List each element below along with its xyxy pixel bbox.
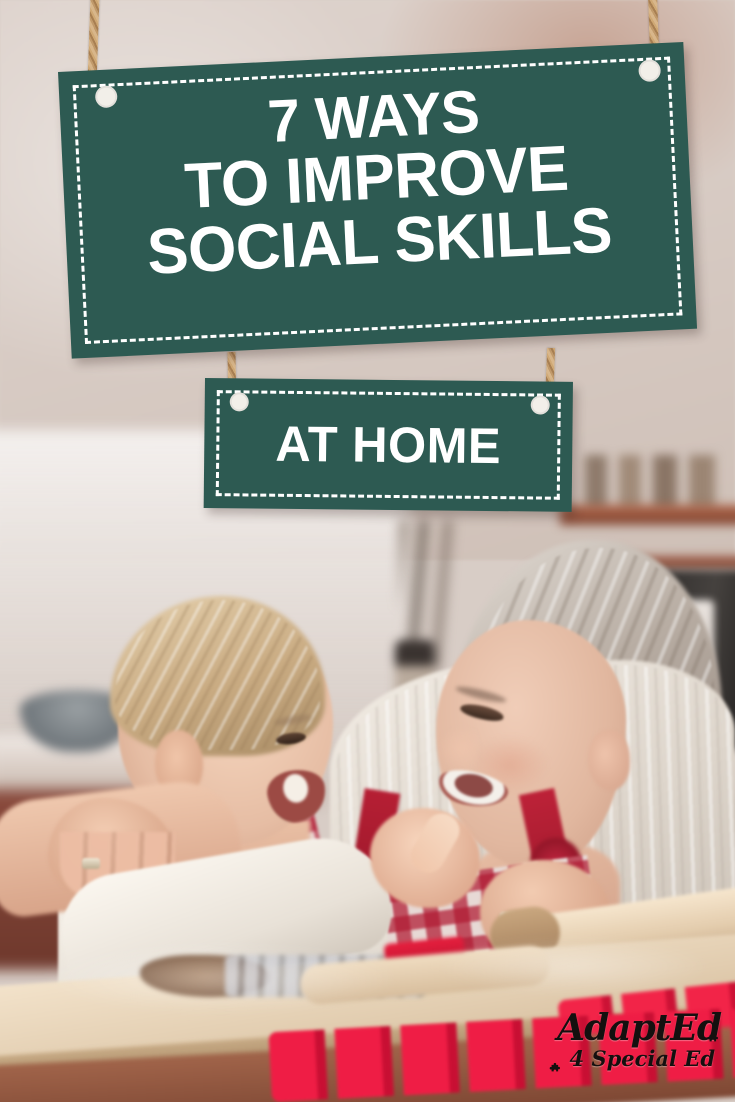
headline-text: 7 WAYS TO IMPROVE SOCIAL SKILLS [69, 72, 684, 287]
puzzle-piece-icon-secondary [548, 1062, 563, 1077]
shelf-jars [585, 455, 735, 511]
subtitle-sign: AT HOME [204, 378, 573, 512]
subtitle-text: AT HOME [208, 414, 569, 476]
puzzle-piece-icon [706, 1032, 721, 1047]
grandmother-ear [588, 730, 630, 790]
sub-grommet-hole-left [230, 392, 249, 411]
headline-sign: 7 WAYS TO IMPROVE SOCIAL SKILLS [58, 42, 697, 359]
grandmother-nose [438, 726, 478, 772]
logo-brand-text: AdaptEd [531, 1010, 721, 1046]
adapted-logo[interactable]: AdaptEd 4 Special Ed [531, 1010, 721, 1086]
pinterest-pin-graphic: 7 WAYS TO IMPROVE SOCIAL SKILLS AT HOME … [0, 0, 735, 1102]
sub-grommet-hole-right [531, 395, 550, 414]
wooden-shelf-upper [560, 505, 735, 525]
grandmother-ring [82, 858, 100, 869]
